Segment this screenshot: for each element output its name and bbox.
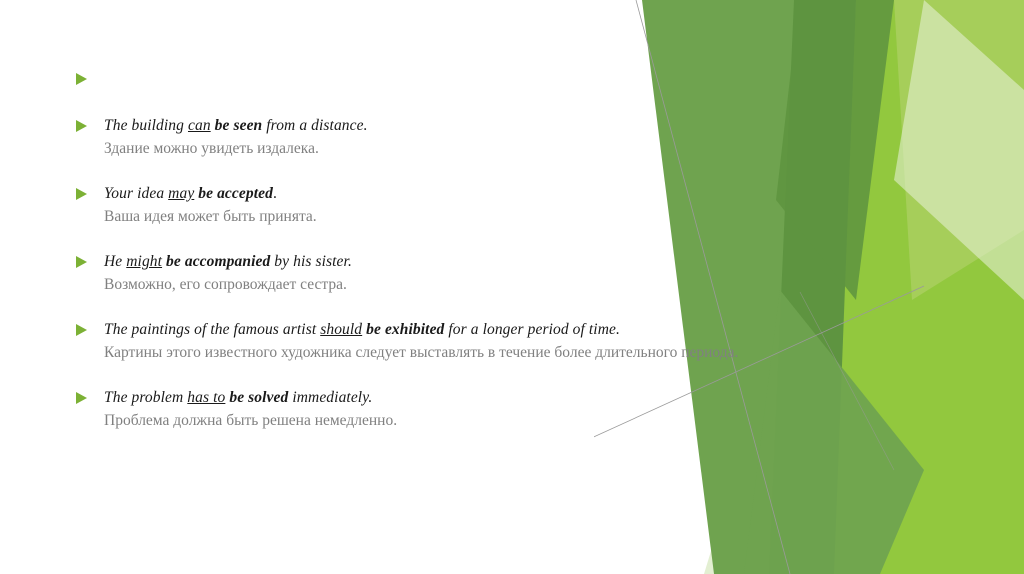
english-lead: The building xyxy=(104,117,188,134)
example-line-russian: Ваша идея может быть принята. xyxy=(104,205,900,229)
example-line-russian: Здание можно увидеть издалека. xyxy=(104,137,900,161)
english-lead: The paintings of the famous artist xyxy=(104,321,320,338)
bullet-arrow-icon xyxy=(76,120,87,132)
english-lead: He xyxy=(104,253,126,270)
bullet-block-should-be-exhibited: The paintings of the famous artist shoul… xyxy=(0,318,900,365)
example-line-english: The problem has to be solved immediately… xyxy=(104,386,900,409)
modal-verb: has to xyxy=(187,389,225,406)
presentation-slide: The building can be seen from a distance… xyxy=(0,0,1024,574)
example-line-english: The building can be seen from a distance… xyxy=(104,114,900,137)
english-lead: Your idea xyxy=(104,185,168,202)
english-tail-stop: . xyxy=(273,185,277,202)
english-trail: from a distance. xyxy=(262,117,367,134)
example-line-russian: Проблема должна быть решена немедленно. xyxy=(104,409,900,433)
english-trail: by his sister. xyxy=(270,253,352,270)
facet-shape-light-green xyxy=(894,0,1024,300)
example-line-english: The paintings of the famous artist shoul… xyxy=(104,318,900,341)
modal-verb: may xyxy=(168,185,194,202)
example-line-english: Your idea may be accepted. xyxy=(104,182,900,205)
bullet-arrow-icon xyxy=(76,73,87,85)
bullet-arrow-icon xyxy=(76,256,87,268)
bullet-arrow-icon xyxy=(76,324,87,336)
example-line-russian: Возможно, его сопровождает сестра. xyxy=(104,273,900,297)
example-line-english: He might be accompanied by his sister. xyxy=(104,250,900,273)
bullet-block-empty xyxy=(0,68,900,88)
modal-verb: should xyxy=(320,321,362,338)
slide-body-text: The building can be seen from a distance… xyxy=(0,0,900,433)
passive-verb: be seen xyxy=(211,117,263,134)
english-lead: The problem xyxy=(104,389,187,406)
passive-verb: be accompanied xyxy=(162,253,270,270)
modal-verb: can xyxy=(188,117,211,134)
facet-shape-pale-overlay xyxy=(894,0,1024,300)
bullet-block-has-to-be-solved: The problem has to be solved immediately… xyxy=(0,386,900,433)
modal-verb: might xyxy=(126,253,162,270)
english-trail: immediately. xyxy=(288,389,372,406)
bullet-arrow-icon xyxy=(76,392,87,404)
bullet-arrow-icon xyxy=(76,188,87,200)
bullet-block-may-be-accepted: Your idea may be accepted. Ваша идея мож… xyxy=(0,182,900,229)
english-trail: for a longer period of time. xyxy=(444,321,620,338)
bullet-block-might-be-accompanied: He might be accompanied by his sister. В… xyxy=(0,250,900,297)
example-line-russian: Картины этого известного художника следу… xyxy=(104,341,900,365)
passive-verb: be accepted xyxy=(194,185,273,202)
passive-verb: be solved xyxy=(225,389,288,406)
bullet-block-can-be-seen: The building can be seen from a distance… xyxy=(0,114,900,161)
passive-verb: be exhibited xyxy=(362,321,444,338)
